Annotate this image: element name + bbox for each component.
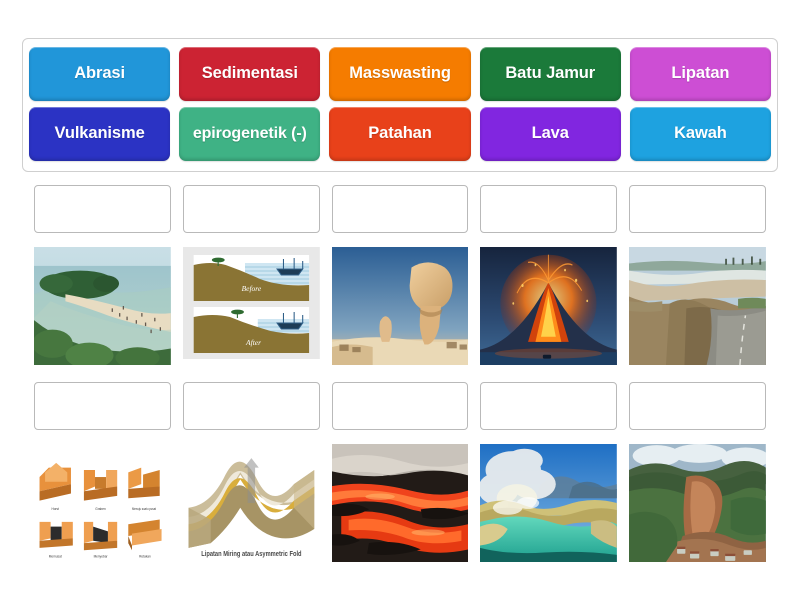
mushroom-rock-photo [332, 247, 469, 365]
answer-row-1: Before [0, 185, 800, 365]
word-tile-sedimentasi[interactable]: Sedimentasi [179, 47, 320, 101]
image-cell-1-1 [34, 247, 171, 365]
image-cell-1-2: Before [183, 247, 320, 365]
svg-text:Before: Before [241, 285, 261, 293]
word-bank-row-2: Vulkanisme epirogenetik (-) Patahan Lava… [29, 107, 771, 161]
dropzone-2-2[interactable] [183, 382, 320, 430]
image-cell-1-4 [480, 247, 617, 365]
dropzone-1-1[interactable] [34, 185, 171, 233]
activity-page: Abrasi Sedimentasi Masswasting Batu Jamu… [0, 0, 800, 600]
svg-text:Graben: Graben [95, 507, 105, 511]
image-cell-1-3 [332, 247, 469, 365]
word-tile-lava[interactable]: Lava [480, 107, 621, 161]
image-row-2: Horst Graben [0, 444, 800, 562]
image-cell-2-2: Lipatan Miring atau Asymmetric Fold [183, 444, 320, 562]
image-cell-1-5 [629, 247, 766, 365]
svg-text:Menyebar: Menyebar [94, 554, 109, 558]
svg-text:Memusat: Memusat [49, 554, 62, 558]
svg-text:Horst: Horst [52, 507, 59, 511]
dropzone-2-1[interactable] [34, 382, 171, 430]
dropzone-1-2[interactable] [183, 185, 320, 233]
dropzone-1-4[interactable] [480, 185, 617, 233]
dropzone-1-3[interactable] [332, 185, 469, 233]
word-tile-kawah[interactable]: Kawah [630, 107, 771, 161]
word-bank-panel: Abrasi Sedimentasi Masswasting Batu Jamu… [22, 38, 778, 172]
asymmetric-fold-diagram: Lipatan Miring atau Asymmetric Fold [183, 444, 320, 562]
dropzone-row-2 [0, 382, 800, 430]
volcano-eruption-photo [480, 247, 617, 365]
svg-text:After: After [245, 339, 261, 347]
answer-row-2: Horst Graben [0, 382, 800, 562]
coastal-erosion-road-photo [629, 247, 766, 365]
fold-caption: Lipatan Miring atau Asymmetric Fold [201, 551, 301, 559]
word-tile-vulkanisme[interactable]: Vulkanisme [29, 107, 170, 161]
beach-abrasion-photo [34, 247, 171, 365]
landslide-photo [629, 444, 766, 562]
image-cell-2-5 [629, 444, 766, 562]
word-tile-masswasting[interactable]: Masswasting [329, 47, 470, 101]
word-tile-patahan[interactable]: Patahan [329, 107, 470, 161]
dropzone-2-5[interactable] [629, 382, 766, 430]
dropzone-1-5[interactable] [629, 185, 766, 233]
word-tile-abrasi[interactable]: Abrasi [29, 47, 170, 101]
word-bank-row-1: Abrasi Sedimentasi Masswasting Batu Jamu… [29, 47, 771, 101]
image-cell-2-1: Horst Graben [34, 444, 171, 562]
sedimentation-diagram: Before [183, 247, 320, 359]
lava-flow-photo [332, 444, 469, 562]
dropzone-2-3[interactable] [332, 382, 469, 430]
dropzone-2-4[interactable] [480, 382, 617, 430]
word-tile-epirogenetik[interactable]: epirogenetik (-) [179, 107, 320, 161]
image-row-1: Before [0, 247, 800, 365]
word-tile-lipatan[interactable]: Lipatan [630, 47, 771, 101]
dropzone-row-1 [0, 185, 800, 233]
svg-text:Retakan: Retakan [139, 554, 151, 558]
word-tile-batu-jamur[interactable]: Batu Jamur [480, 47, 621, 101]
fault-types-diagram: Horst Graben [34, 444, 171, 562]
image-cell-2-3 [332, 444, 469, 562]
crater-lake-photo [480, 444, 617, 562]
svg-text:Menuju suatu pusat: Menuju suatu pusat [132, 507, 156, 511]
image-cell-2-4 [480, 444, 617, 562]
